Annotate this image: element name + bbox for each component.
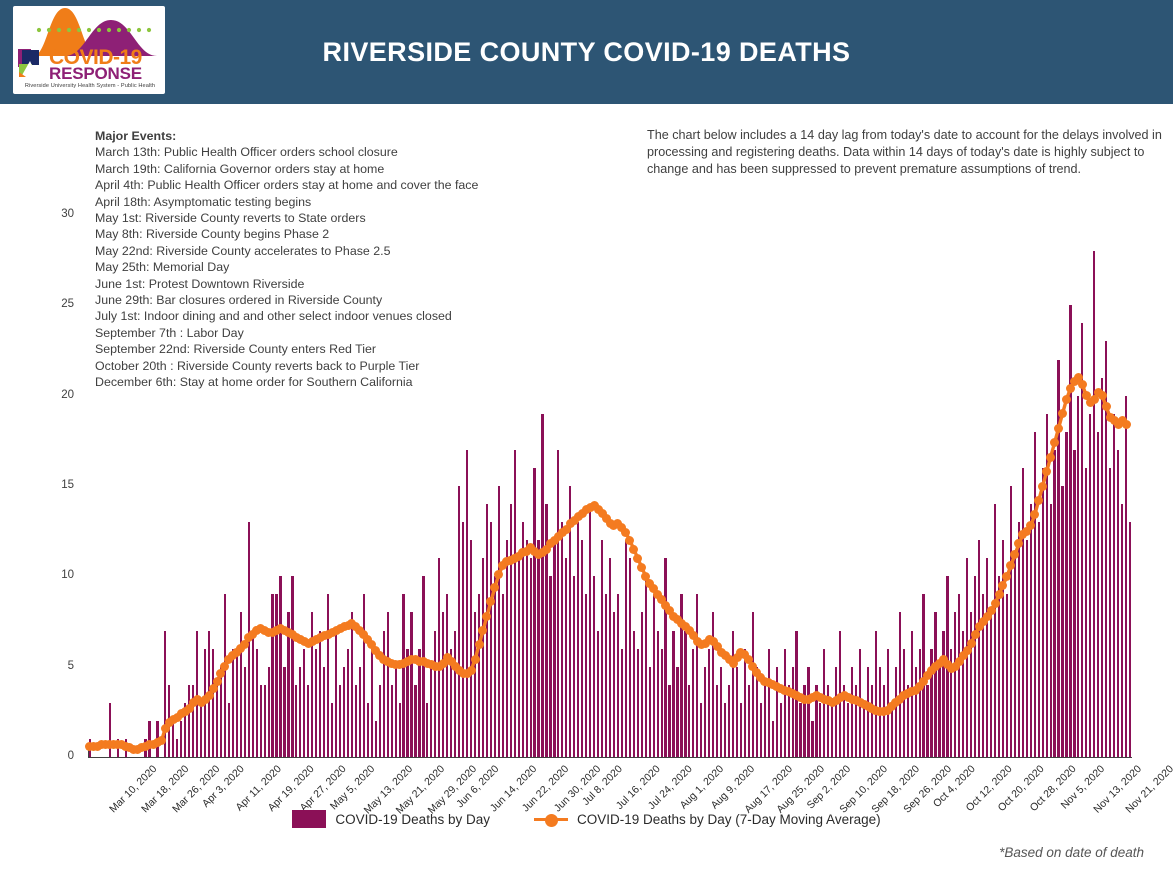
bar — [1018, 522, 1020, 757]
bar — [180, 721, 182, 757]
major-event-item: September 7th : Labor Day — [95, 325, 635, 341]
moving-average-point — [463, 669, 472, 678]
bar — [244, 667, 246, 757]
moving-average-point — [661, 601, 670, 610]
x-axis-tick: Oct 12, 2020 — [964, 763, 1015, 814]
moving-average-point — [363, 635, 372, 644]
bar — [700, 703, 702, 757]
bar — [994, 504, 996, 757]
moving-average-point — [105, 740, 114, 749]
x-axis-tick: Mar 18, 2020 — [139, 763, 191, 815]
moving-average-point — [804, 695, 813, 704]
moving-average-point — [574, 512, 583, 521]
bar — [934, 612, 936, 757]
bar — [347, 649, 349, 757]
bar — [1065, 432, 1067, 757]
x-axis-tick: May 5, 2020 — [328, 763, 377, 812]
moving-average-point — [268, 628, 277, 637]
bar — [589, 504, 591, 757]
moving-average-point — [169, 715, 178, 724]
moving-average-point — [324, 630, 333, 639]
bar — [966, 558, 968, 757]
moving-average-point — [792, 691, 801, 700]
page-header: COVID-19 RESPONSE Riverside University H… — [0, 0, 1173, 104]
moving-average-point — [828, 698, 837, 707]
x-axis-tick: Sep 2, 2020 — [804, 763, 853, 812]
bar — [879, 667, 881, 757]
bar — [1081, 323, 1083, 757]
x-axis-tick: Apr 27, 2020 — [297, 763, 348, 814]
moving-average-point — [459, 669, 468, 678]
moving-average-point — [736, 648, 745, 657]
moving-average-point — [439, 659, 448, 668]
moving-average-point — [197, 698, 206, 707]
bar — [851, 667, 853, 757]
moving-average-point — [824, 696, 833, 705]
x-axis-tick: May 21, 2020 — [393, 763, 446, 816]
bar — [704, 667, 706, 757]
bar — [252, 631, 254, 757]
bar — [319, 631, 321, 757]
moving-average-point — [713, 642, 722, 651]
moving-average-point — [566, 519, 575, 528]
moving-average-point — [883, 706, 892, 715]
moving-average-point — [113, 740, 122, 749]
legend-item-moving-average: COVID-19 Deaths by Day (7-Day Moving Ave… — [534, 812, 881, 827]
x-axis-tick: Sep 26, 2020 — [901, 763, 954, 816]
bar — [291, 576, 293, 757]
bar — [915, 667, 917, 757]
moving-average-point — [971, 630, 980, 639]
bar — [1085, 468, 1087, 757]
moving-average-point — [748, 662, 757, 671]
moving-average-point — [697, 640, 706, 649]
moving-average-point — [1074, 373, 1083, 382]
bar — [446, 594, 448, 757]
bar — [533, 468, 535, 757]
chart-legend: COVID-19 Deaths by Day COVID-19 Deaths b… — [0, 810, 1173, 828]
moving-average-point — [899, 691, 908, 700]
moving-average-point — [181, 707, 190, 716]
bar — [839, 631, 841, 757]
bar — [696, 594, 698, 757]
bar — [688, 685, 690, 757]
moving-average-point — [931, 662, 940, 671]
moving-average-point — [482, 612, 491, 621]
moving-average-point — [1006, 561, 1015, 570]
bar — [1093, 251, 1095, 757]
moving-average-point — [856, 698, 865, 707]
bar — [565, 558, 567, 757]
moving-average-point — [915, 682, 924, 691]
moving-average-point — [760, 677, 769, 686]
bar — [728, 685, 730, 757]
moving-average-point — [228, 651, 237, 660]
moving-average-point — [689, 631, 698, 640]
major-event-item: June 29th: Bar closures ordered in River… — [95, 292, 635, 308]
moving-average-point — [260, 626, 269, 635]
moving-average-point — [609, 521, 618, 530]
bar — [684, 631, 686, 757]
moving-average-point — [216, 669, 225, 678]
x-axis-tick: Jun 30, 2020 — [551, 763, 602, 814]
y-axis-tick: 20 — [48, 389, 74, 401]
moving-average-point — [717, 648, 726, 657]
bar — [827, 685, 829, 757]
bar — [303, 649, 305, 757]
moving-average-point — [951, 662, 960, 671]
moving-average-point — [252, 626, 261, 635]
moving-average-point — [907, 687, 916, 696]
moving-average-point — [923, 671, 932, 680]
moving-average-point — [415, 657, 424, 666]
y-axis-tick: 25 — [48, 298, 74, 310]
legend-line-label: COVID-19 Deaths by Day (7-Day Moving Ave… — [577, 812, 881, 827]
bar — [406, 649, 408, 757]
moving-average-point — [1066, 384, 1075, 393]
moving-average-point — [860, 700, 869, 709]
moving-average-point — [586, 503, 595, 512]
bar — [1002, 540, 1004, 757]
bar — [430, 667, 432, 757]
moving-average-point — [1014, 539, 1023, 548]
moving-average-point — [963, 646, 972, 655]
moving-average-point — [371, 646, 380, 655]
bar — [792, 667, 794, 757]
y-axis-stub — [88, 745, 89, 758]
x-axis-tick: Nov 21, 2020 — [1123, 763, 1173, 816]
moving-average-point — [387, 659, 396, 668]
bar — [148, 721, 150, 757]
x-axis-tick: Mar 10, 2020 — [107, 763, 159, 815]
moving-average-point — [1086, 398, 1095, 407]
moving-average-point — [93, 742, 102, 751]
moving-average-point — [522, 547, 531, 556]
bar — [1014, 558, 1016, 757]
bar — [545, 504, 547, 757]
x-axis-tick: Nov 5, 2020 — [1058, 763, 1107, 812]
moving-average-point — [613, 519, 622, 528]
bar — [919, 649, 921, 757]
bar — [196, 631, 198, 757]
moving-average-point — [1110, 416, 1119, 425]
bar — [335, 631, 337, 757]
bar — [883, 685, 885, 757]
bar — [410, 612, 412, 757]
moving-average-point — [1054, 424, 1063, 433]
moving-average-point — [852, 696, 861, 705]
bar — [212, 649, 214, 757]
bar — [1022, 468, 1024, 757]
moving-average-point — [427, 660, 436, 669]
bar — [788, 685, 790, 757]
moving-average-point — [375, 651, 384, 660]
moving-average-point — [578, 509, 587, 518]
y-axis-tick: 10 — [48, 569, 74, 581]
moving-average-point — [399, 659, 408, 668]
major-event-item: July 1st: Indoor dining and and other se… — [95, 308, 635, 324]
major-event-item: September 22nd: Riverside County enters … — [95, 341, 635, 357]
bar — [248, 522, 250, 757]
moving-average-point — [776, 684, 785, 693]
bar — [450, 649, 452, 757]
moving-average-point — [685, 626, 694, 635]
moving-average-point — [236, 644, 245, 653]
x-axis-tick: Aug 25, 2020 — [774, 763, 827, 816]
moving-average-point — [848, 695, 857, 704]
bar — [672, 631, 674, 757]
moving-average-point — [137, 743, 146, 752]
bar — [764, 685, 766, 757]
moving-average-point — [328, 628, 337, 637]
bar — [490, 522, 492, 757]
moving-average-point — [153, 738, 162, 747]
bar — [458, 486, 460, 757]
bar — [708, 649, 710, 757]
bar — [613, 612, 615, 757]
moving-average-point — [383, 657, 392, 666]
bar — [526, 540, 528, 757]
bar — [156, 721, 158, 757]
moving-average-point — [340, 622, 349, 631]
legend-line-swatch — [534, 812, 568, 826]
moving-average-point — [189, 698, 198, 707]
bar — [720, 667, 722, 757]
bar — [1038, 522, 1040, 757]
bar — [1089, 414, 1091, 757]
moving-average-point — [840, 691, 849, 700]
major-events-list: Major Events: March 13th: Public Health … — [95, 128, 635, 391]
bar — [343, 667, 345, 757]
bar — [426, 703, 428, 757]
bar — [1069, 305, 1071, 757]
bar — [986, 558, 988, 757]
moving-average-point — [1122, 420, 1131, 429]
bar — [875, 631, 877, 757]
moving-average-point — [653, 590, 662, 599]
moving-average-point — [391, 660, 400, 669]
moving-average-point — [701, 639, 710, 648]
bar — [260, 685, 262, 757]
moving-average-point — [240, 640, 249, 649]
moving-average-point — [939, 655, 948, 664]
moving-average-point — [871, 706, 880, 715]
bar — [748, 685, 750, 757]
moving-average-point — [967, 639, 976, 648]
major-event-item: March 19th: California Governor orders s… — [95, 161, 635, 177]
bar — [577, 522, 579, 757]
moving-average-point — [411, 655, 420, 664]
bar — [680, 594, 682, 757]
bar — [383, 631, 385, 757]
bar — [605, 594, 607, 757]
moving-average-point — [800, 695, 809, 704]
moving-average-point — [681, 622, 690, 631]
bar — [597, 631, 599, 757]
bar — [395, 667, 397, 757]
bar — [1129, 522, 1131, 757]
moving-average-point — [641, 572, 650, 581]
x-axis-tick: Apr 3, 2020 — [200, 763, 247, 810]
bar — [375, 721, 377, 757]
bar — [843, 685, 845, 757]
bar — [815, 685, 817, 757]
moving-average-point — [947, 664, 956, 673]
bar — [287, 612, 289, 757]
moving-average-point — [351, 622, 360, 631]
moving-average-point — [213, 677, 222, 686]
moving-average-point — [514, 552, 523, 561]
bar — [220, 667, 222, 757]
moving-average-point — [431, 662, 440, 671]
moving-average-point — [725, 655, 734, 664]
bar — [998, 576, 1000, 757]
bar — [930, 649, 932, 757]
moving-average-point — [879, 707, 888, 716]
bar — [470, 540, 472, 757]
moving-average-point — [332, 626, 341, 635]
moving-average-point — [185, 704, 194, 713]
bar — [1053, 450, 1055, 757]
moving-average-point — [201, 695, 210, 704]
moving-average-point — [903, 689, 912, 698]
bar — [859, 649, 861, 757]
bar — [621, 649, 623, 757]
bar — [387, 612, 389, 757]
moving-average-point — [467, 666, 476, 675]
moving-average-point — [1050, 438, 1059, 447]
bar — [307, 685, 309, 757]
moving-average-point — [344, 621, 353, 630]
moving-average-point — [1010, 550, 1019, 559]
bar — [811, 721, 813, 757]
moving-average-point — [836, 693, 845, 702]
bar — [561, 522, 563, 757]
bar — [315, 649, 317, 757]
bar — [553, 540, 555, 757]
moving-average-point — [403, 657, 412, 666]
moving-average-point — [764, 678, 773, 687]
moving-average-point — [379, 655, 388, 664]
major-event-item: March 13th: Public Health Officer orders… — [95, 144, 635, 160]
bar — [371, 649, 373, 757]
moving-average-point — [165, 718, 174, 727]
moving-average-point — [304, 639, 313, 648]
bar — [772, 721, 774, 757]
bar — [653, 594, 655, 757]
moving-average-point — [677, 619, 686, 628]
moving-average-point — [224, 655, 233, 664]
bar — [649, 667, 651, 757]
bar — [712, 612, 714, 757]
moving-average-point — [125, 743, 134, 752]
moving-average-point — [959, 651, 968, 660]
y-axis-tick: 5 — [48, 660, 74, 672]
bar — [676, 667, 678, 757]
bar — [784, 649, 786, 757]
moving-average-point — [490, 583, 499, 592]
bar — [724, 703, 726, 757]
bar — [514, 450, 516, 757]
moving-average-point — [407, 655, 416, 664]
x-axis-tick: Jul 8, 2020 — [580, 763, 625, 808]
bar — [414, 685, 416, 757]
x-axis-tick: Jul 16, 2020 — [614, 763, 663, 812]
bar — [1105, 341, 1107, 757]
x-axis-tick: Sep 10, 2020 — [838, 763, 891, 816]
bar — [776, 667, 778, 757]
logo: COVID-19 RESPONSE Riverside University H… — [13, 6, 165, 94]
moving-average-point — [1002, 572, 1011, 581]
moving-average-point — [1022, 527, 1031, 536]
moving-average-point — [729, 659, 738, 668]
major-event-item: May 8th: Riverside County begins Phase 2 — [95, 226, 635, 242]
moving-average-point — [669, 612, 678, 621]
logo-response-text: RESPONSE — [49, 66, 165, 82]
x-axis-tick: May 13, 2020 — [362, 763, 415, 816]
bar — [1101, 378, 1103, 757]
x-axis-tick: Oct 28, 2020 — [1028, 763, 1079, 814]
bar — [355, 685, 357, 757]
bar — [271, 594, 273, 757]
y-axis-tick: 30 — [48, 208, 74, 220]
bar — [391, 685, 393, 757]
bar — [946, 576, 948, 757]
bar — [907, 685, 909, 757]
moving-average-point — [816, 693, 825, 702]
bar — [668, 685, 670, 757]
moving-average-point — [502, 557, 511, 566]
moving-average-point — [558, 528, 567, 537]
moving-average-point — [975, 622, 984, 631]
bar — [982, 594, 984, 757]
moving-average-point — [510, 554, 519, 563]
bar — [89, 739, 91, 757]
bar — [351, 612, 353, 757]
moving-average-point — [1026, 521, 1035, 530]
moving-average-point — [498, 561, 507, 570]
moving-average-point — [1030, 510, 1039, 519]
bar — [942, 631, 944, 757]
x-axis-tick: Nov 13, 2020 — [1092, 763, 1145, 816]
bar — [569, 486, 571, 757]
x-axis-tick: Apr 11, 2020 — [233, 763, 283, 813]
y-axis-tick: 0 — [48, 750, 74, 762]
moving-average-point — [812, 691, 821, 700]
moving-average-point — [546, 539, 555, 548]
moving-average-point — [864, 702, 873, 711]
bar — [482, 558, 484, 757]
bar — [756, 667, 758, 757]
moving-average-point — [820, 695, 829, 704]
bar — [835, 667, 837, 757]
moving-average-point — [141, 742, 150, 751]
bar — [780, 703, 782, 757]
logo-badge-icon — [17, 48, 49, 80]
bar — [184, 703, 186, 757]
major-event-item: May 1st: Riverside County reverts to Sta… — [95, 210, 635, 226]
moving-average-point — [633, 554, 642, 563]
bar — [522, 522, 524, 757]
bar — [172, 721, 174, 757]
moving-average-point — [673, 615, 682, 624]
logo-tagline: Riverside University Health System - Pub… — [17, 83, 163, 89]
moving-average-point — [423, 659, 432, 668]
bar — [625, 540, 627, 757]
moving-average-point — [772, 682, 781, 691]
bar — [1109, 468, 1111, 757]
moving-average-point — [705, 635, 714, 644]
